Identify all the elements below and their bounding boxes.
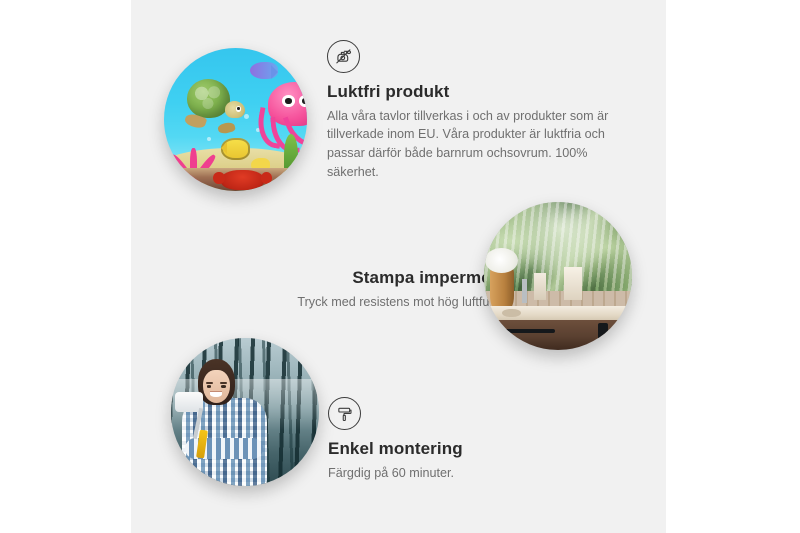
paint-roller (175, 392, 214, 412)
feature-title: Stampa impermeabile (193, 268, 530, 288)
no-fragrance-icon (327, 40, 360, 73)
woman (180, 359, 269, 486)
feature-description: Alla våra tavlor tillverkas i och av pro… (327, 107, 627, 183)
feature-odour-free: Luktfri produkt Alla våra tavlor tillver… (327, 40, 627, 182)
feature-title: Luktfri produkt (327, 82, 627, 102)
decor-object (534, 273, 546, 300)
fish-purple (250, 62, 279, 79)
bubble-icon (244, 114, 249, 119)
feature-title: Enkel montering (328, 439, 588, 459)
feature-description: Färgdig på 60 minuter. (328, 464, 588, 483)
photo-woman-paint-roller (171, 338, 319, 486)
infographic-panel: Luktfri produkt Alla våra tavlor tillver… (131, 0, 666, 533)
screenshot-stage: Luktfri produkt Alla våra tavlor tillver… (0, 0, 800, 533)
photo-underwater-cartoon (164, 48, 307, 191)
octopus (258, 82, 307, 151)
flowers (485, 248, 518, 273)
feature-waterproof-print: Stampa impermeabile Tryck med resistens … (193, 226, 530, 311)
fish-yellow (221, 138, 250, 159)
sea-turtle (184, 79, 241, 129)
wooden-vanity (484, 320, 632, 350)
feature-easy-mounting: Enkel montering Färgdig på 60 minuter. (328, 397, 588, 482)
photo-bathroom-botanical (484, 202, 632, 350)
faucet (522, 279, 526, 303)
feature-description: Tryck med resistens mot hög luftfuktighe… (193, 293, 530, 312)
table-lamp (564, 267, 582, 300)
paint-roller-icon (328, 397, 361, 430)
crab (221, 170, 264, 190)
